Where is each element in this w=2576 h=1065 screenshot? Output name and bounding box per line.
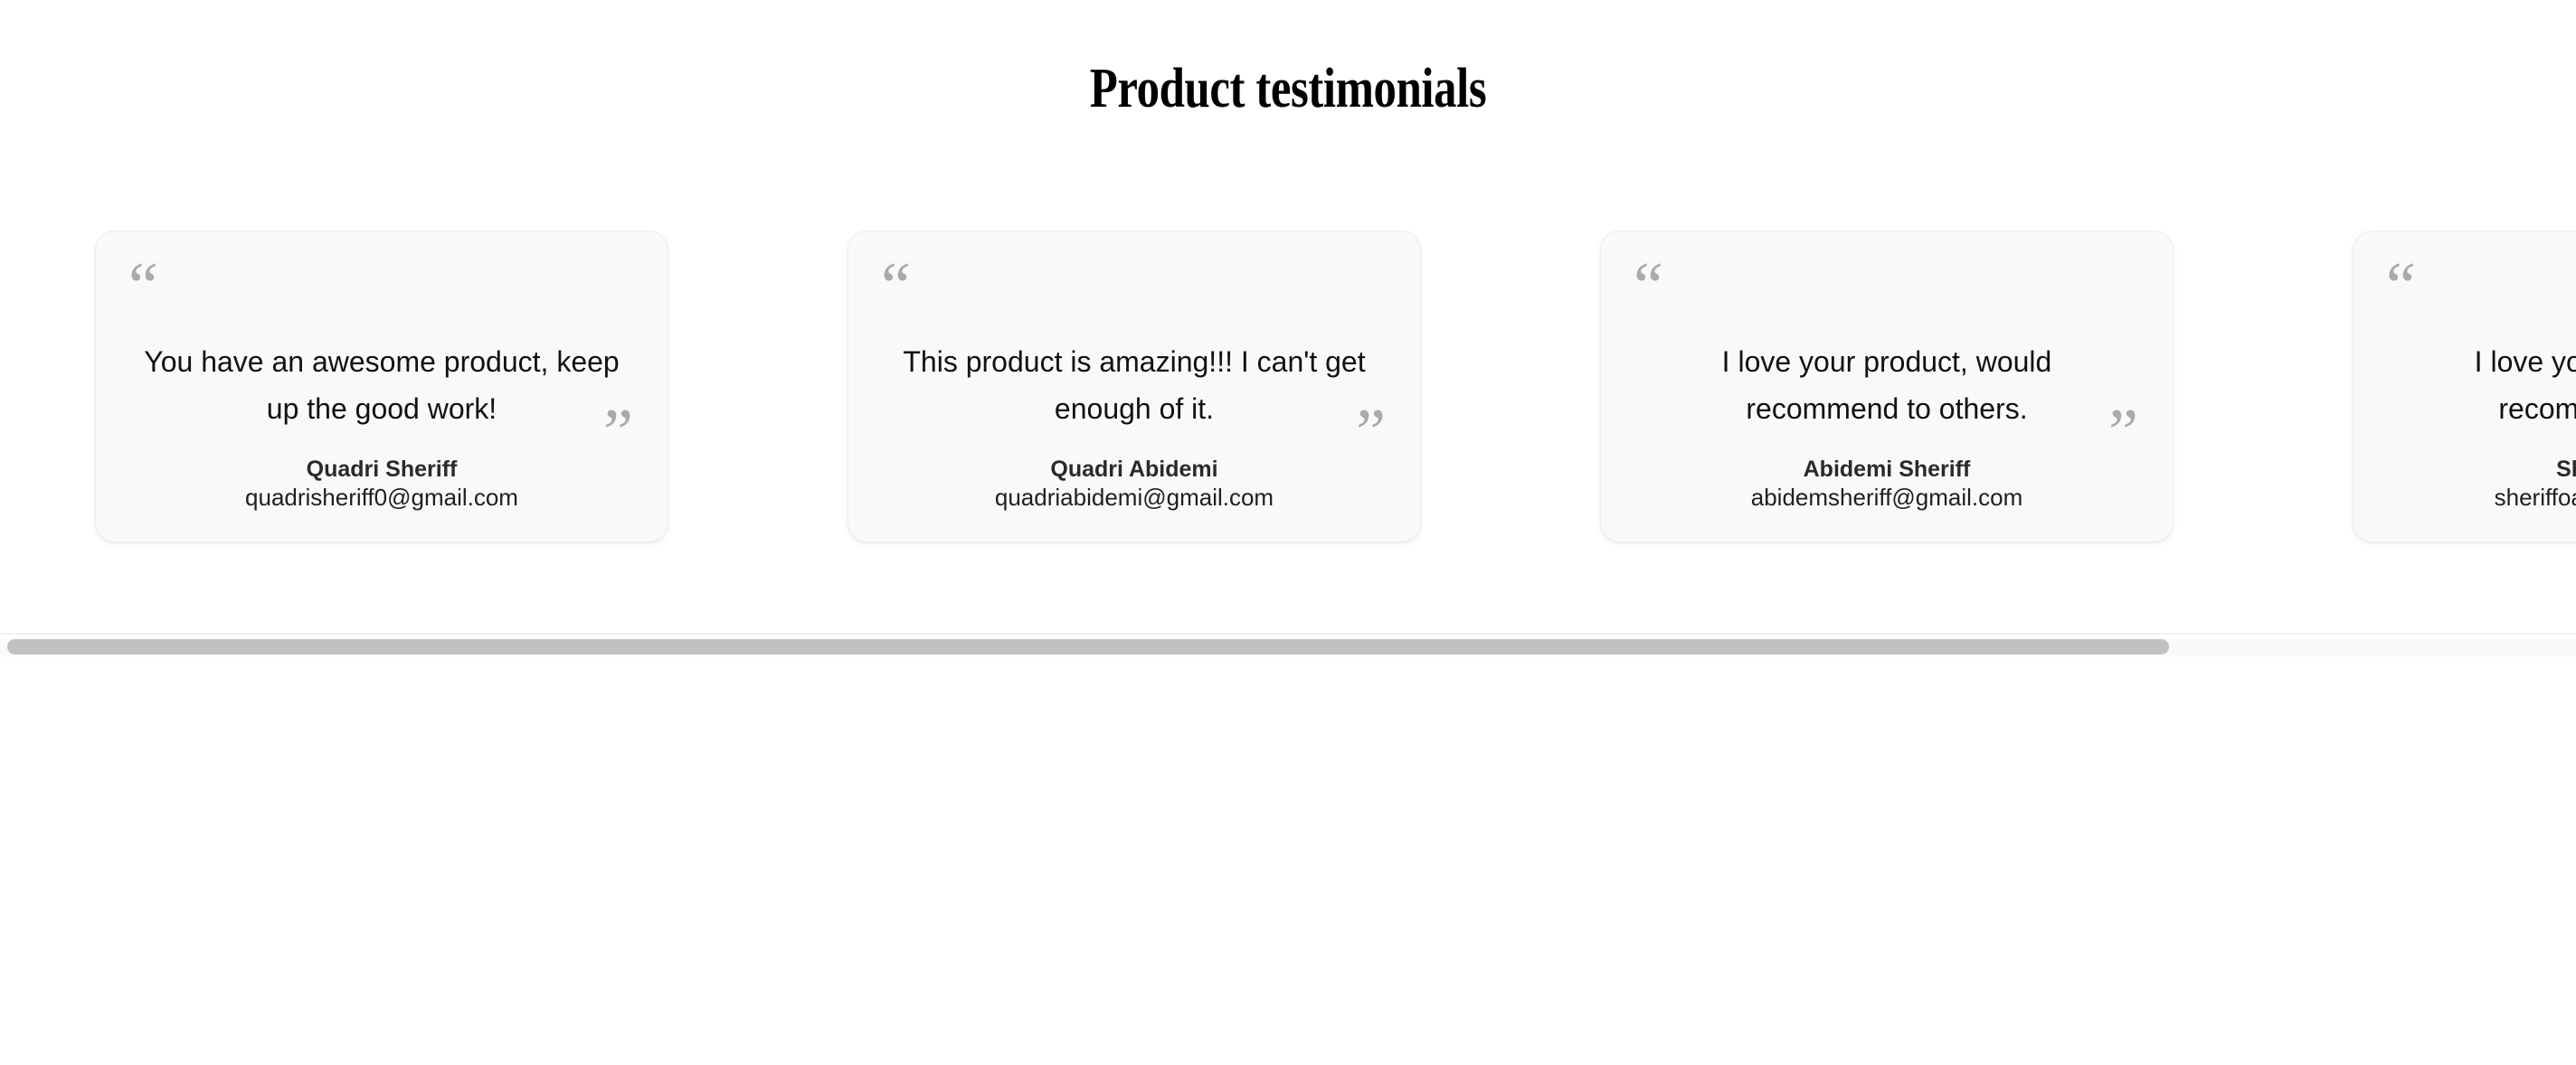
author-email: quadriabidemi@gmail.com: [876, 483, 1393, 512]
testimonial-quote: I love your product, would recommend to …: [1648, 338, 2126, 432]
testimonials-page: Product testimonials “ You have an aweso…: [0, 0, 2576, 1065]
page-title: Product testimonials: [232, 51, 2344, 127]
carousel-track[interactable]: “ You have an awesome product, keep up t…: [95, 231, 2576, 574]
author-email: sheriffoabidemi@gmail.com: [2381, 483, 2576, 512]
testimonial-card[interactable]: “ You have an awesome product, keep up t…: [95, 231, 668, 542]
testimonial-card[interactable]: “ This product is amazing!!! I can't get…: [848, 231, 1421, 542]
quote-open-icon: “: [1634, 253, 1665, 320]
author-name: Sheriff Abidemi: [2381, 456, 2576, 483]
testimonial-quote: You have an awesome product, keep up the…: [143, 338, 620, 432]
testimonial-author: Quadri Abidemi quadriabidemi@gmail.com: [876, 456, 1393, 512]
testimonial-quote: I love your product, would recommend to …: [2401, 338, 2576, 432]
horizontal-scrollbar[interactable]: [0, 633, 2576, 658]
testimonial-author: Quadri Sheriff quadrisheriff0@gmail.com: [123, 456, 640, 512]
testimonials-carousel[interactable]: “ You have an awesome product, keep up t…: [0, 231, 2576, 574]
scrollbar-thumb[interactable]: [7, 639, 2169, 655]
author-name: Abidemi Sheriff: [1628, 456, 2145, 483]
testimonial-author: Sheriff Abidemi sheriffoabidemi@gmail.co…: [2381, 456, 2576, 512]
quote-open-icon: “: [2386, 253, 2418, 320]
author-email: abidemsheriff@gmail.com: [1628, 483, 2145, 512]
author-email: quadrisheriff0@gmail.com: [123, 483, 640, 512]
testimonial-quote: This product is amazing!!! I can't get e…: [895, 338, 1373, 432]
testimonial-card[interactable]: “ I love your product, would recommend t…: [2353, 231, 2576, 542]
testimonial-author: Abidemi Sheriff abidemsheriff@gmail.com: [1628, 456, 2145, 512]
author-name: Quadri Sheriff: [123, 456, 640, 483]
testimonial-card[interactable]: “ I love your product, would recommend t…: [1600, 231, 2173, 542]
author-name: Quadri Abidemi: [876, 456, 1393, 483]
quote-open-icon: “: [881, 253, 913, 320]
quote-open-icon: “: [128, 253, 160, 320]
